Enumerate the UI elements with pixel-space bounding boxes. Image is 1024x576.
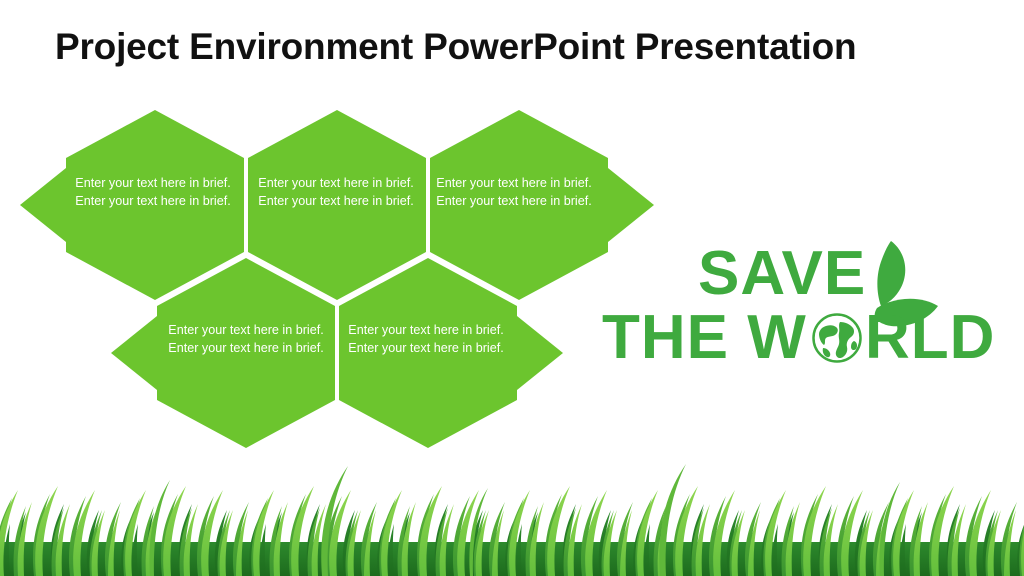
page-title: Project Environment PowerPoint Presentat…: [55, 27, 985, 68]
hexagon-label-1: Enter your text here in brief. Enter you…: [73, 174, 233, 211]
hexagon-shape-2[interactable]: [248, 110, 426, 300]
hexagon-shape-1[interactable]: [20, 110, 244, 300]
hexagon-shape-5[interactable]: [339, 258, 563, 448]
logo-line1-text: SAVE: [698, 239, 866, 308]
logo-line2-prefix-text: THE W: [602, 303, 807, 368]
hexagon-label-4: Enter your text here in brief. Enter you…: [166, 321, 326, 358]
hexagon-label-3: Enter your text here in brief. Enter you…: [434, 174, 594, 211]
hexagon-shape-4[interactable]: [111, 258, 335, 448]
presentation-slide: Project Environment PowerPoint Presentat…: [0, 0, 1024, 576]
hexagon-label-5: Enter your text here in brief. Enter you…: [346, 321, 506, 358]
hexagon-label-2: Enter your text here in brief. Enter you…: [256, 174, 416, 211]
globe-icon: [814, 315, 861, 362]
grass-border: [0, 446, 1024, 576]
logo-line2-suffix-text: RLD: [865, 303, 995, 368]
save-the-world-logo: SAVE THE W RLD: [600, 236, 1012, 368]
